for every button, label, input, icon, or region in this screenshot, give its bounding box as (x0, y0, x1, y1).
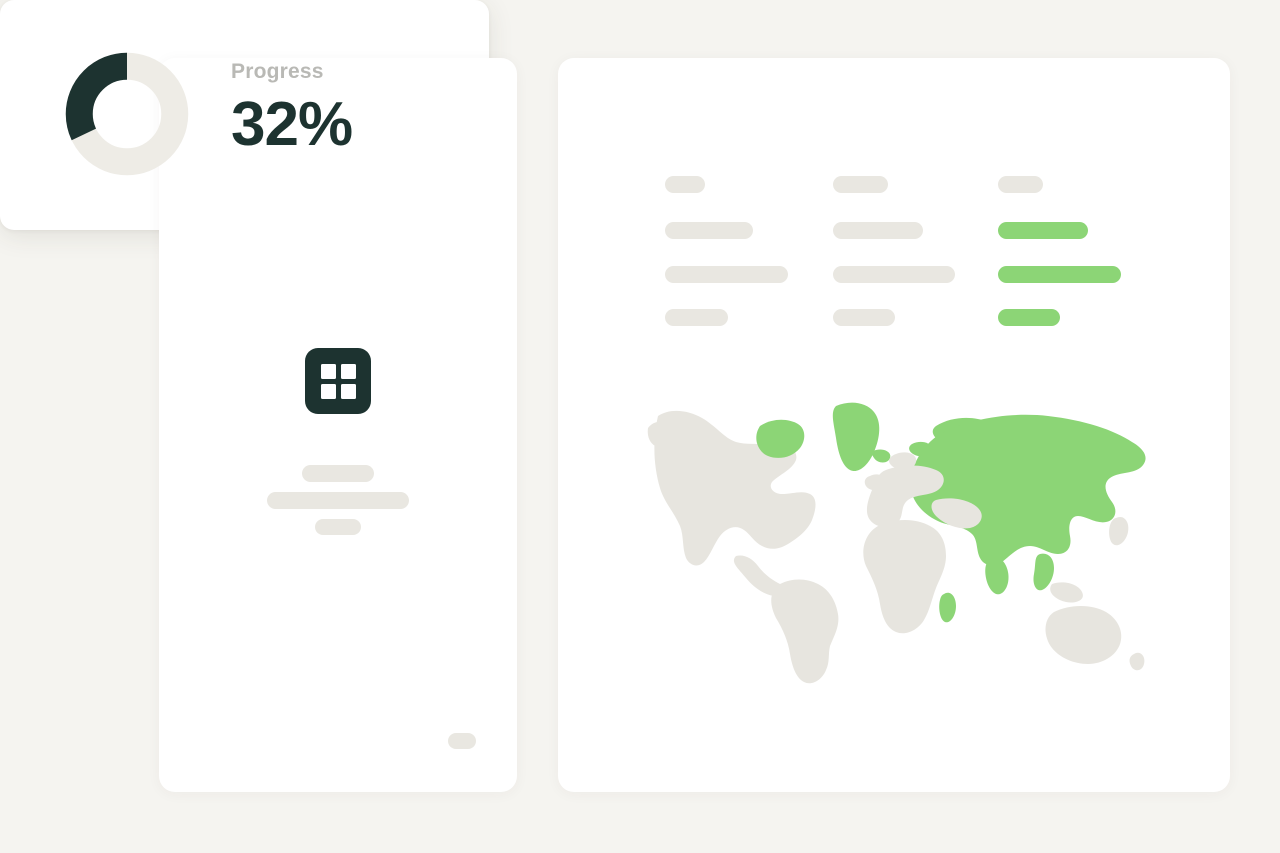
map-region-north-atlantic-isle (872, 449, 890, 462)
map-region-russia-asia (910, 415, 1145, 566)
skeleton-c3-r4 (998, 309, 1060, 326)
map-region-south-america (771, 580, 838, 684)
map-region-new-zealand (1130, 653, 1145, 671)
skeleton-c1-r2 (665, 222, 753, 239)
map-region-scandinavia-gray (889, 452, 916, 469)
map-region-australia (1046, 606, 1122, 664)
map-region-southeast-asia (1033, 554, 1054, 591)
skeleton-c2-r1 (833, 176, 888, 193)
map-region-british-isles (865, 474, 885, 490)
grid-icon-cells (321, 364, 356, 399)
skeleton-c3-r2 (998, 222, 1088, 239)
map-region-northern-canada (756, 420, 804, 458)
skeleton-c2-r3 (833, 266, 955, 283)
skeleton-c1-r3 (665, 266, 788, 283)
skeleton-c2-r4 (833, 309, 895, 326)
skeleton-c2-r2 (833, 222, 923, 239)
right-card (558, 58, 1230, 792)
grid-icon[interactable] (305, 348, 371, 414)
footer-pill (448, 733, 476, 749)
progress-label: Progress (231, 61, 352, 82)
skeleton-line-2 (267, 492, 409, 509)
progress-donut-chart (64, 51, 190, 177)
grid-cell-1 (321, 364, 336, 379)
map-region-indonesia (1050, 582, 1083, 602)
map-region-africa (863, 520, 946, 633)
grid-cell-4 (341, 384, 356, 399)
skeleton-c1-r4 (665, 309, 728, 326)
map-region-madagascar (939, 593, 956, 623)
skeleton-line-1 (302, 465, 374, 482)
map-region-japan (1109, 517, 1128, 545)
middle-card (159, 58, 517, 792)
skeleton-c3-r3 (998, 266, 1121, 283)
map-region-india (985, 558, 1008, 595)
progress-value: 32% (231, 94, 352, 156)
grid-cell-3 (321, 384, 336, 399)
skeleton-c3-r1 (998, 176, 1043, 193)
progress-text-block: Progress 32% (231, 61, 352, 156)
world-map[interactable] (640, 398, 1160, 698)
skeleton-c1-r1 (665, 176, 705, 193)
grid-cell-2 (341, 364, 356, 379)
skeleton-line-3 (315, 519, 361, 535)
map-region-greenland (833, 403, 879, 471)
